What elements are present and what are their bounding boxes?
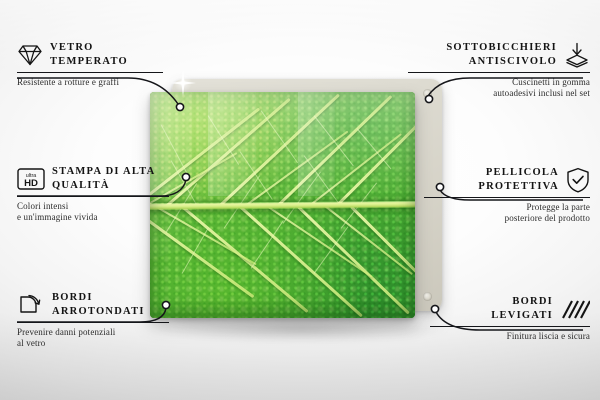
leaf-macro-artwork — [150, 92, 415, 318]
feature-anti-slip-pads: SOTTOBICCHIERI ANTISCIVOLO Cuscinetti in… — [408, 41, 590, 100]
feature-protective-film: PELLICOLA PROTETTIVA Protegge la parte p… — [424, 166, 590, 225]
feature-subtitle: Colori intensi e un'immagine vivida — [17, 201, 169, 224]
product-image — [150, 66, 450, 328]
feature-title: VETRO TEMPERATO — [50, 41, 128, 69]
feature-title: PELLICOLA PROTETTIVA — [478, 166, 559, 194]
feature-hd-print: ultra HD STAMPA DI ALTA QUALITÀ Colori i… — [17, 165, 169, 224]
feature-subtitle: Cuscinetti in gomma autoadesivi inclusi … — [408, 77, 590, 100]
divider-rule — [17, 72, 163, 73]
divider-rule — [408, 72, 590, 73]
product-drop-shadow — [156, 316, 448, 342]
feature-subtitle: Finitura liscia e sicura — [430, 331, 590, 343]
feature-tempered-glass: VETRO TEMPERATO Resistente a rotture e g… — [17, 41, 163, 88]
hatch-lines-icon — [560, 297, 590, 321]
divider-rule — [17, 196, 169, 197]
feature-title: SOTTOBICCHIERI ANTISCIVOLO — [446, 41, 557, 69]
feature-rounded-edges: BORDI ARROTONDATI Prevenire danni potenz… — [17, 291, 169, 350]
feature-subtitle: Prevenire danni potenziali al vetro — [17, 327, 169, 350]
press-pad-icon — [564, 42, 590, 68]
feature-title: STAMPA DI ALTA QUALITÀ — [52, 165, 155, 193]
divider-rule — [424, 197, 590, 198]
diamond-icon — [17, 44, 43, 66]
divider-rule — [430, 326, 590, 327]
tempered-glass-panel — [150, 92, 415, 318]
feature-smooth-edges: BORDI LEVIGATI Finitura liscia e sicura — [430, 295, 590, 342]
infographic-canvas: VETRO TEMPERATO Resistente a rotture e g… — [0, 0, 600, 400]
feature-subtitle: Protegge la parte posteriore del prodott… — [424, 202, 590, 225]
divider-rule — [17, 322, 169, 323]
feature-subtitle: Resistente a rotture e graffi — [17, 77, 163, 89]
feature-title: BORDI LEVIGATI — [491, 295, 553, 323]
rounded-corner-icon — [17, 293, 45, 317]
ultra-hd-badge-icon: ultra HD — [17, 167, 45, 191]
svg-text:HD: HD — [24, 178, 38, 189]
shield-check-icon — [566, 167, 590, 193]
feature-title: BORDI ARROTONDATI — [52, 291, 145, 319]
